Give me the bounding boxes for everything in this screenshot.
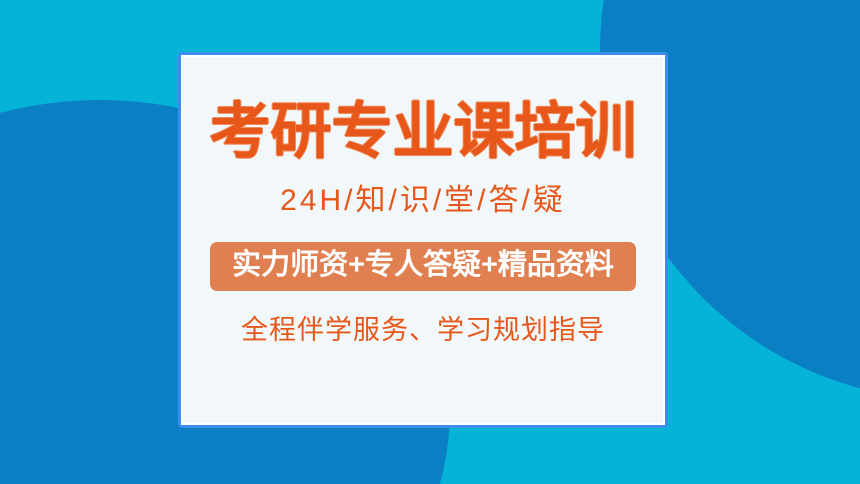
content-card: 考研专业课培训 24H/知/识/堂/答/疑 实力师资+专人答疑+精品资料 全程伴… (178, 52, 668, 428)
poster-title: 考研专业课培训 (209, 101, 636, 162)
poster-subtitle: 24H/知/识/堂/答/疑 (280, 186, 566, 216)
promo-poster: 考研专业课培训 24H/知/识/堂/答/疑 实力师资+专人答疑+精品资料 全程伴… (0, 0, 860, 484)
content-card-inner: 考研专业课培训 24H/知/识/堂/答/疑 实力师资+专人答疑+精品资料 全程伴… (181, 55, 665, 425)
features-badge: 实力师资+专人答疑+精品资料 (210, 242, 636, 291)
poster-tagline: 全程伴学服务、学习规划指导 (241, 317, 605, 344)
